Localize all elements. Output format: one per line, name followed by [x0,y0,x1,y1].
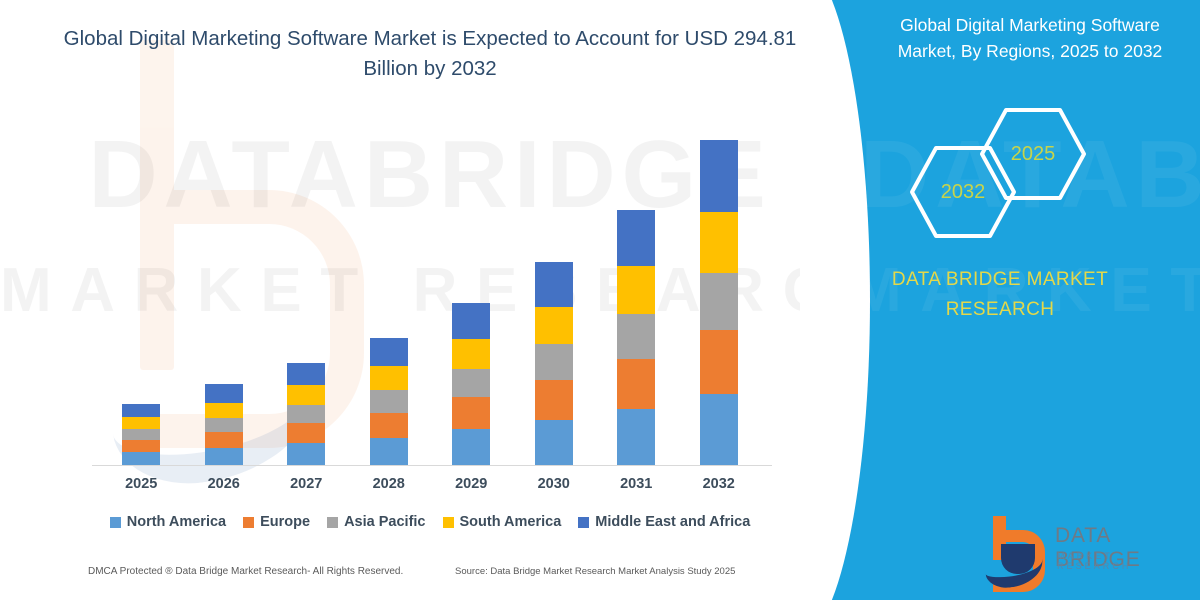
bar-segment-north-america[interactable] [617,409,655,465]
legend-label: North America [127,514,226,530]
bar-segment-south-america[interactable] [205,403,243,419]
legend-swatch-icon [578,517,589,528]
footer-source: Source: Data Bridge Market Research Mark… [455,566,735,577]
bar-segment-asia-pacific[interactable] [205,418,243,432]
bar-segment-middle-east-and-africa[interactable] [287,363,325,386]
logo-tagline: MARKET RESEARCH [1057,551,1185,571]
bar-2026[interactable] [205,384,243,465]
chart-title: Global Digital Marketing Software Market… [50,24,810,84]
brand-name-line1: DATA BRIDGE MARKET [840,265,1160,295]
hexagon-2032: 2032 [908,144,1018,240]
x-axis-label-2032: 2032 [689,476,749,492]
bar-segment-asia-pacific[interactable] [535,344,573,380]
bar-segment-north-america[interactable] [205,448,243,465]
legend-swatch-icon [243,517,254,528]
bar-segment-south-america[interactable] [370,366,408,390]
bar-segment-europe[interactable] [535,380,573,420]
brand-name-line2: RESEARCH [840,295,1160,325]
chart-panel: DATABRIDGE MARKET RESEARCH Global Digita… [0,0,860,600]
x-axis-label-2027: 2027 [276,476,336,492]
brand-panel-title: Global Digital Marketing Software Market… [872,12,1188,64]
x-axis-label-2030: 2030 [524,476,584,492]
bar-2029[interactable] [452,303,490,465]
chart-legend: North AmericaEuropeAsia PacificSouth Ame… [0,514,860,530]
x-axis-label-2028: 2028 [359,476,419,492]
bar-segment-middle-east-and-africa[interactable] [535,262,573,307]
legend-swatch-icon [443,517,454,528]
brand-name: DATA BRIDGE MARKET RESEARCH [840,265,1160,325]
bar-2028[interactable] [370,338,408,465]
brand-panel: DATABRIDGE MARKET RESEARCH Global Digita… [800,0,1200,600]
legend-item-north-america[interactable]: North America [110,514,226,530]
bar-2032[interactable] [700,140,738,465]
legend-label: Asia Pacific [344,514,425,530]
company-logo: DATA BRIDGE MARKET RESEARCH [985,510,1185,582]
bar-segment-middle-east-and-africa[interactable] [452,303,490,339]
legend-label: South America [460,514,562,530]
x-axis-label-2031: 2031 [606,476,666,492]
bar-segment-south-america[interactable] [617,266,655,314]
bar-segment-europe[interactable] [452,397,490,429]
bar-segment-south-america[interactable] [535,307,573,345]
bar-2025[interactable] [122,404,160,465]
bar-segment-north-america[interactable] [535,420,573,465]
bar-segment-south-america[interactable] [122,417,160,429]
bar-segment-europe[interactable] [370,413,408,438]
bar-segment-asia-pacific[interactable] [617,314,655,359]
bar-segment-middle-east-and-africa[interactable] [700,140,738,212]
bar-segment-europe[interactable] [122,440,160,452]
bar-chart-plot-area [100,140,760,465]
legend-item-asia-pacific[interactable]: Asia Pacific [327,514,425,530]
bar-segment-europe[interactable] [287,423,325,443]
data-bridge-mark-icon [985,516,1047,576]
bar-segment-asia-pacific[interactable] [452,369,490,397]
bar-segment-north-america[interactable] [122,452,160,465]
bar-segment-asia-pacific[interactable] [122,429,160,440]
legend-label: Middle East and Africa [595,514,750,530]
footer: DMCA Protected ® Data Bridge Market Rese… [0,566,860,586]
bar-segment-north-america[interactable] [452,429,490,465]
bar-2027[interactable] [287,363,325,466]
bar-segment-asia-pacific[interactable] [287,405,325,423]
bar-segment-south-america[interactable] [452,339,490,369]
legend-item-europe[interactable]: Europe [243,514,310,530]
infographic-root: DATABRIDGE MARKET RESEARCH Global Digita… [0,0,1200,600]
bar-segment-europe[interactable] [617,359,655,409]
x-axis-label-2026: 2026 [194,476,254,492]
bar-segment-europe[interactable] [205,432,243,448]
legend-item-middle-east-and-africa[interactable]: Middle East and Africa [578,514,750,530]
legend-swatch-icon [327,517,338,528]
bar-segment-middle-east-and-africa[interactable] [122,404,160,418]
x-axis-label-2029: 2029 [441,476,501,492]
bar-2030[interactable] [535,262,573,465]
bar-segment-south-america[interactable] [287,385,325,404]
bar-segment-europe[interactable] [700,330,738,394]
bar-segment-middle-east-and-africa[interactable] [617,210,655,267]
legend-item-south-america[interactable]: South America [443,514,562,530]
chart-baseline [92,465,772,466]
legend-swatch-icon [110,517,121,528]
x-axis-labels: 20252026202720282029203020312032 [100,476,760,498]
bar-segment-asia-pacific[interactable] [700,273,738,330]
bar-segment-asia-pacific[interactable] [370,390,408,413]
bar-segment-north-america[interactable] [370,438,408,465]
bar-segment-north-america[interactable] [700,394,738,465]
hexagon-2032-label: 2032 [908,144,1018,240]
hexagon-group: 2025 2032 [890,100,1130,250]
footer-copyright: DMCA Protected ® Data Bridge Market Rese… [88,566,403,577]
bar-segment-middle-east-and-africa[interactable] [205,384,243,402]
bar-2031[interactable] [617,210,655,465]
x-axis-label-2025: 2025 [111,476,171,492]
bar-segment-north-america[interactable] [287,443,325,465]
legend-label: Europe [260,514,310,530]
bar-segment-south-america[interactable] [700,212,738,272]
bar-segment-middle-east-and-africa[interactable] [370,338,408,366]
